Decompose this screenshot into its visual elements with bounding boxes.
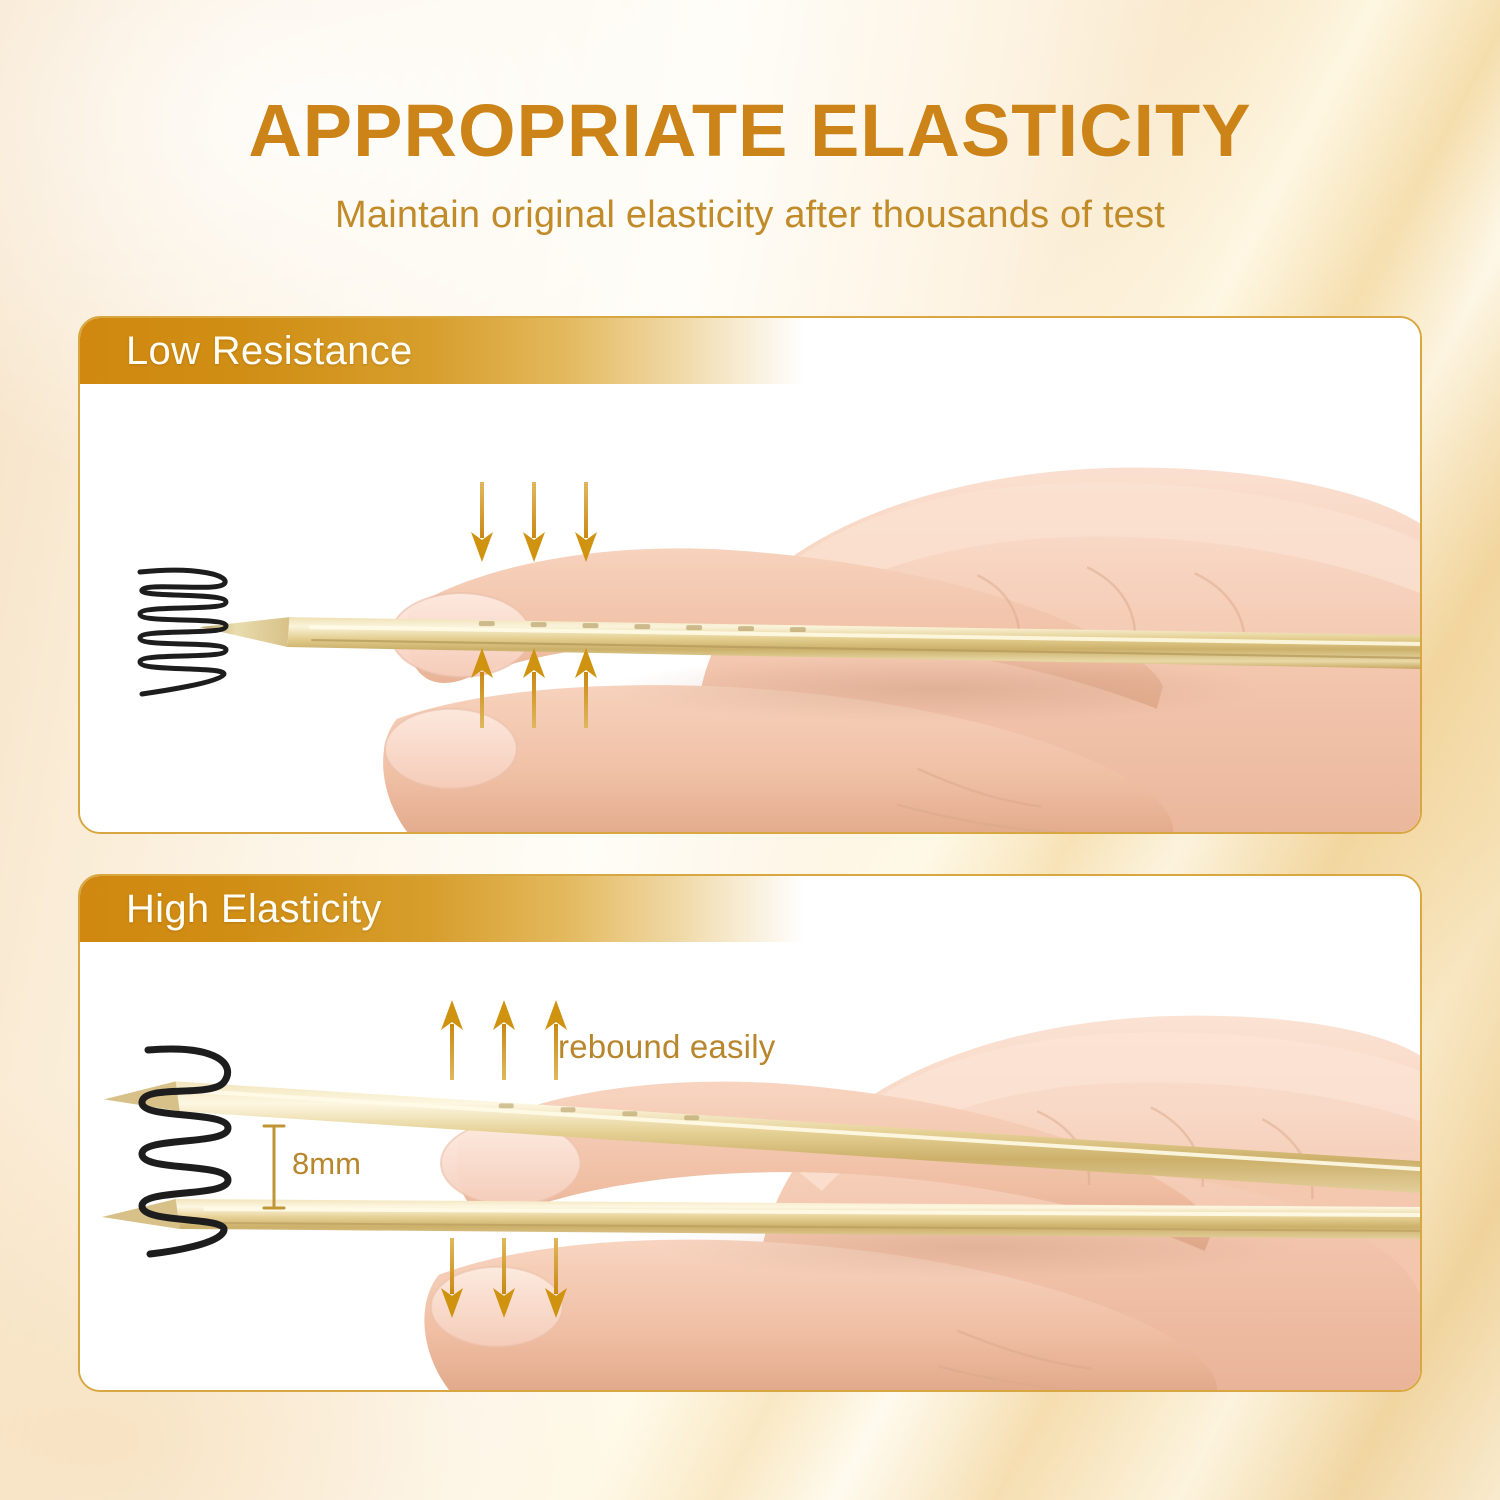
arrow-down-icon [470,482,494,562]
header: APPROPRIATE ELASTICITY Maintain original… [0,92,1500,237]
arrow-up-icon [522,648,546,728]
dimension-label: 8mm [292,1146,361,1182]
page-subtitle: Maintain original elasticity after thous… [0,194,1500,237]
expanded-spring-icon [124,1040,246,1262]
feature-panel-low-resistance: Low Resistance [78,316,1422,834]
arrow-down-icon [440,1238,464,1318]
arrow-down-icon [574,482,598,562]
arrow-up-icon [470,648,494,728]
hand-holding-closed-tweezers-photo [80,318,1420,834]
page-title: APPROPRIATE ELASTICITY [0,92,1500,170]
dimension-8mm: 8mm [258,1120,388,1216]
arrows-up-top [440,1000,568,1080]
arrows-up-bottom [470,648,598,728]
arrows-down-top [470,482,598,562]
arrow-up-icon [574,648,598,728]
arrows-down-bottom [440,1238,568,1318]
arrow-down-icon [544,1238,568,1318]
arrow-up-icon [492,1000,516,1080]
compressed-spring-icon [128,562,240,702]
arrow-down-icon [522,482,546,562]
arrow-up-icon [440,1000,464,1080]
rebound-easily-label: rebound easily [558,1028,775,1066]
arrow-down-icon [492,1238,516,1318]
panel-photo-area [80,318,1420,832]
infographic-stage: APPROPRIATE ELASTICITY Maintain original… [0,0,1500,1500]
